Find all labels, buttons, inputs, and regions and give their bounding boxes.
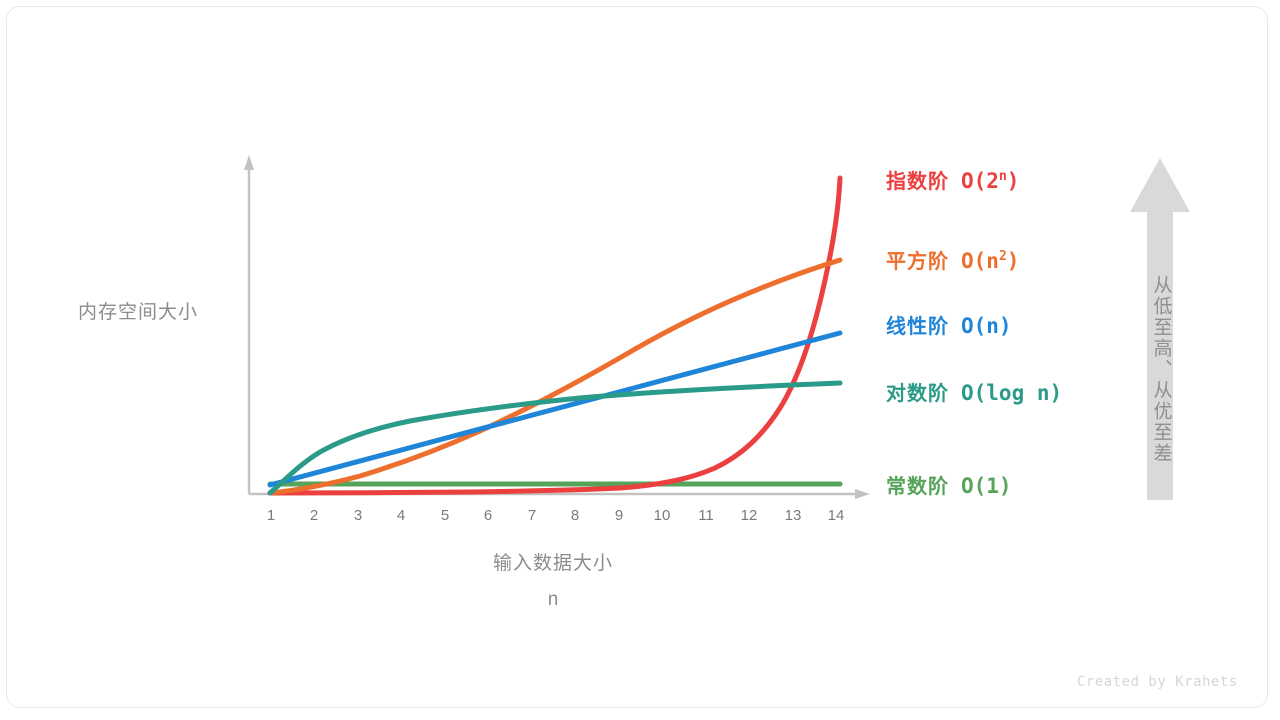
legend-label-linear: 线性阶 — [886, 316, 949, 338]
x-tick-13: 13 — [780, 507, 806, 524]
x-tick-10: 10 — [649, 507, 675, 524]
legend-item-logarithmic: 对数阶O(log n) — [886, 377, 1062, 406]
legend-label-logarithmic: 对数阶 — [886, 383, 949, 405]
series-quadratic — [270, 260, 840, 493]
legend-item-constant: 常数阶O(1) — [886, 470, 1012, 499]
legend-label-quadratic: 平方阶 — [886, 251, 949, 273]
legend-item-linear: 线性阶O(n) — [886, 310, 1012, 339]
legend-item-quadratic: 平方阶O(n2) — [886, 245, 1019, 274]
quality-arrow-label: 从低至高、从优至差 — [1148, 275, 1175, 464]
x-tick-14: 14 — [823, 507, 849, 524]
watermark: Created by Krahets — [1077, 674, 1238, 690]
chart-page: 从低至高、从优至差 内存空间大小 输入数据大小 n 1 2 3 4 5 6 7 … — [0, 0, 1280, 720]
x-tick-7: 7 — [519, 507, 545, 524]
x-tick-4: 4 — [388, 507, 414, 524]
quality-arrow-text-holder: 从低至高、从优至差 — [1133, 158, 1189, 500]
legend-notation-constant: O(1) — [961, 474, 1012, 498]
x-axis-variable: n — [413, 589, 693, 611]
legend-label-exponential: 指数阶 — [886, 171, 949, 193]
legend-notation-linear: O(n) — [961, 314, 1012, 338]
x-tick-3: 3 — [345, 507, 371, 524]
x-tick-8: 8 — [562, 507, 588, 524]
x-tick-6: 6 — [475, 507, 501, 524]
x-tick-5: 5 — [432, 507, 458, 524]
series-exponential — [270, 178, 840, 493]
legend-notation-quadratic: O(n2) — [961, 249, 1019, 273]
quality-arrow-label-wrap: 从低至高、从优至差 — [1133, 158, 1189, 500]
x-axis-title-group: 输入数据大小 n — [413, 548, 693, 611]
legend-label-constant: 常数阶 — [886, 476, 949, 498]
legend-notation-exponential: O(2n) — [961, 169, 1019, 193]
x-tick-11: 11 — [693, 507, 719, 524]
x-tick-1: 1 — [258, 507, 284, 524]
series-linear — [270, 333, 840, 485]
legend-item-exponential: 指数阶O(2n) — [886, 165, 1019, 194]
y-axis — [244, 155, 254, 494]
complexity-plot — [0, 0, 1280, 720]
x-tick-9: 9 — [606, 507, 632, 524]
x-tick-12: 12 — [736, 507, 762, 524]
x-tick-2: 2 — [301, 507, 327, 524]
y-axis-title: 内存空间大小 — [78, 297, 198, 324]
legend-notation-logarithmic: O(log n) — [961, 381, 1062, 405]
x-axis-title: 输入数据大小 — [413, 548, 693, 575]
